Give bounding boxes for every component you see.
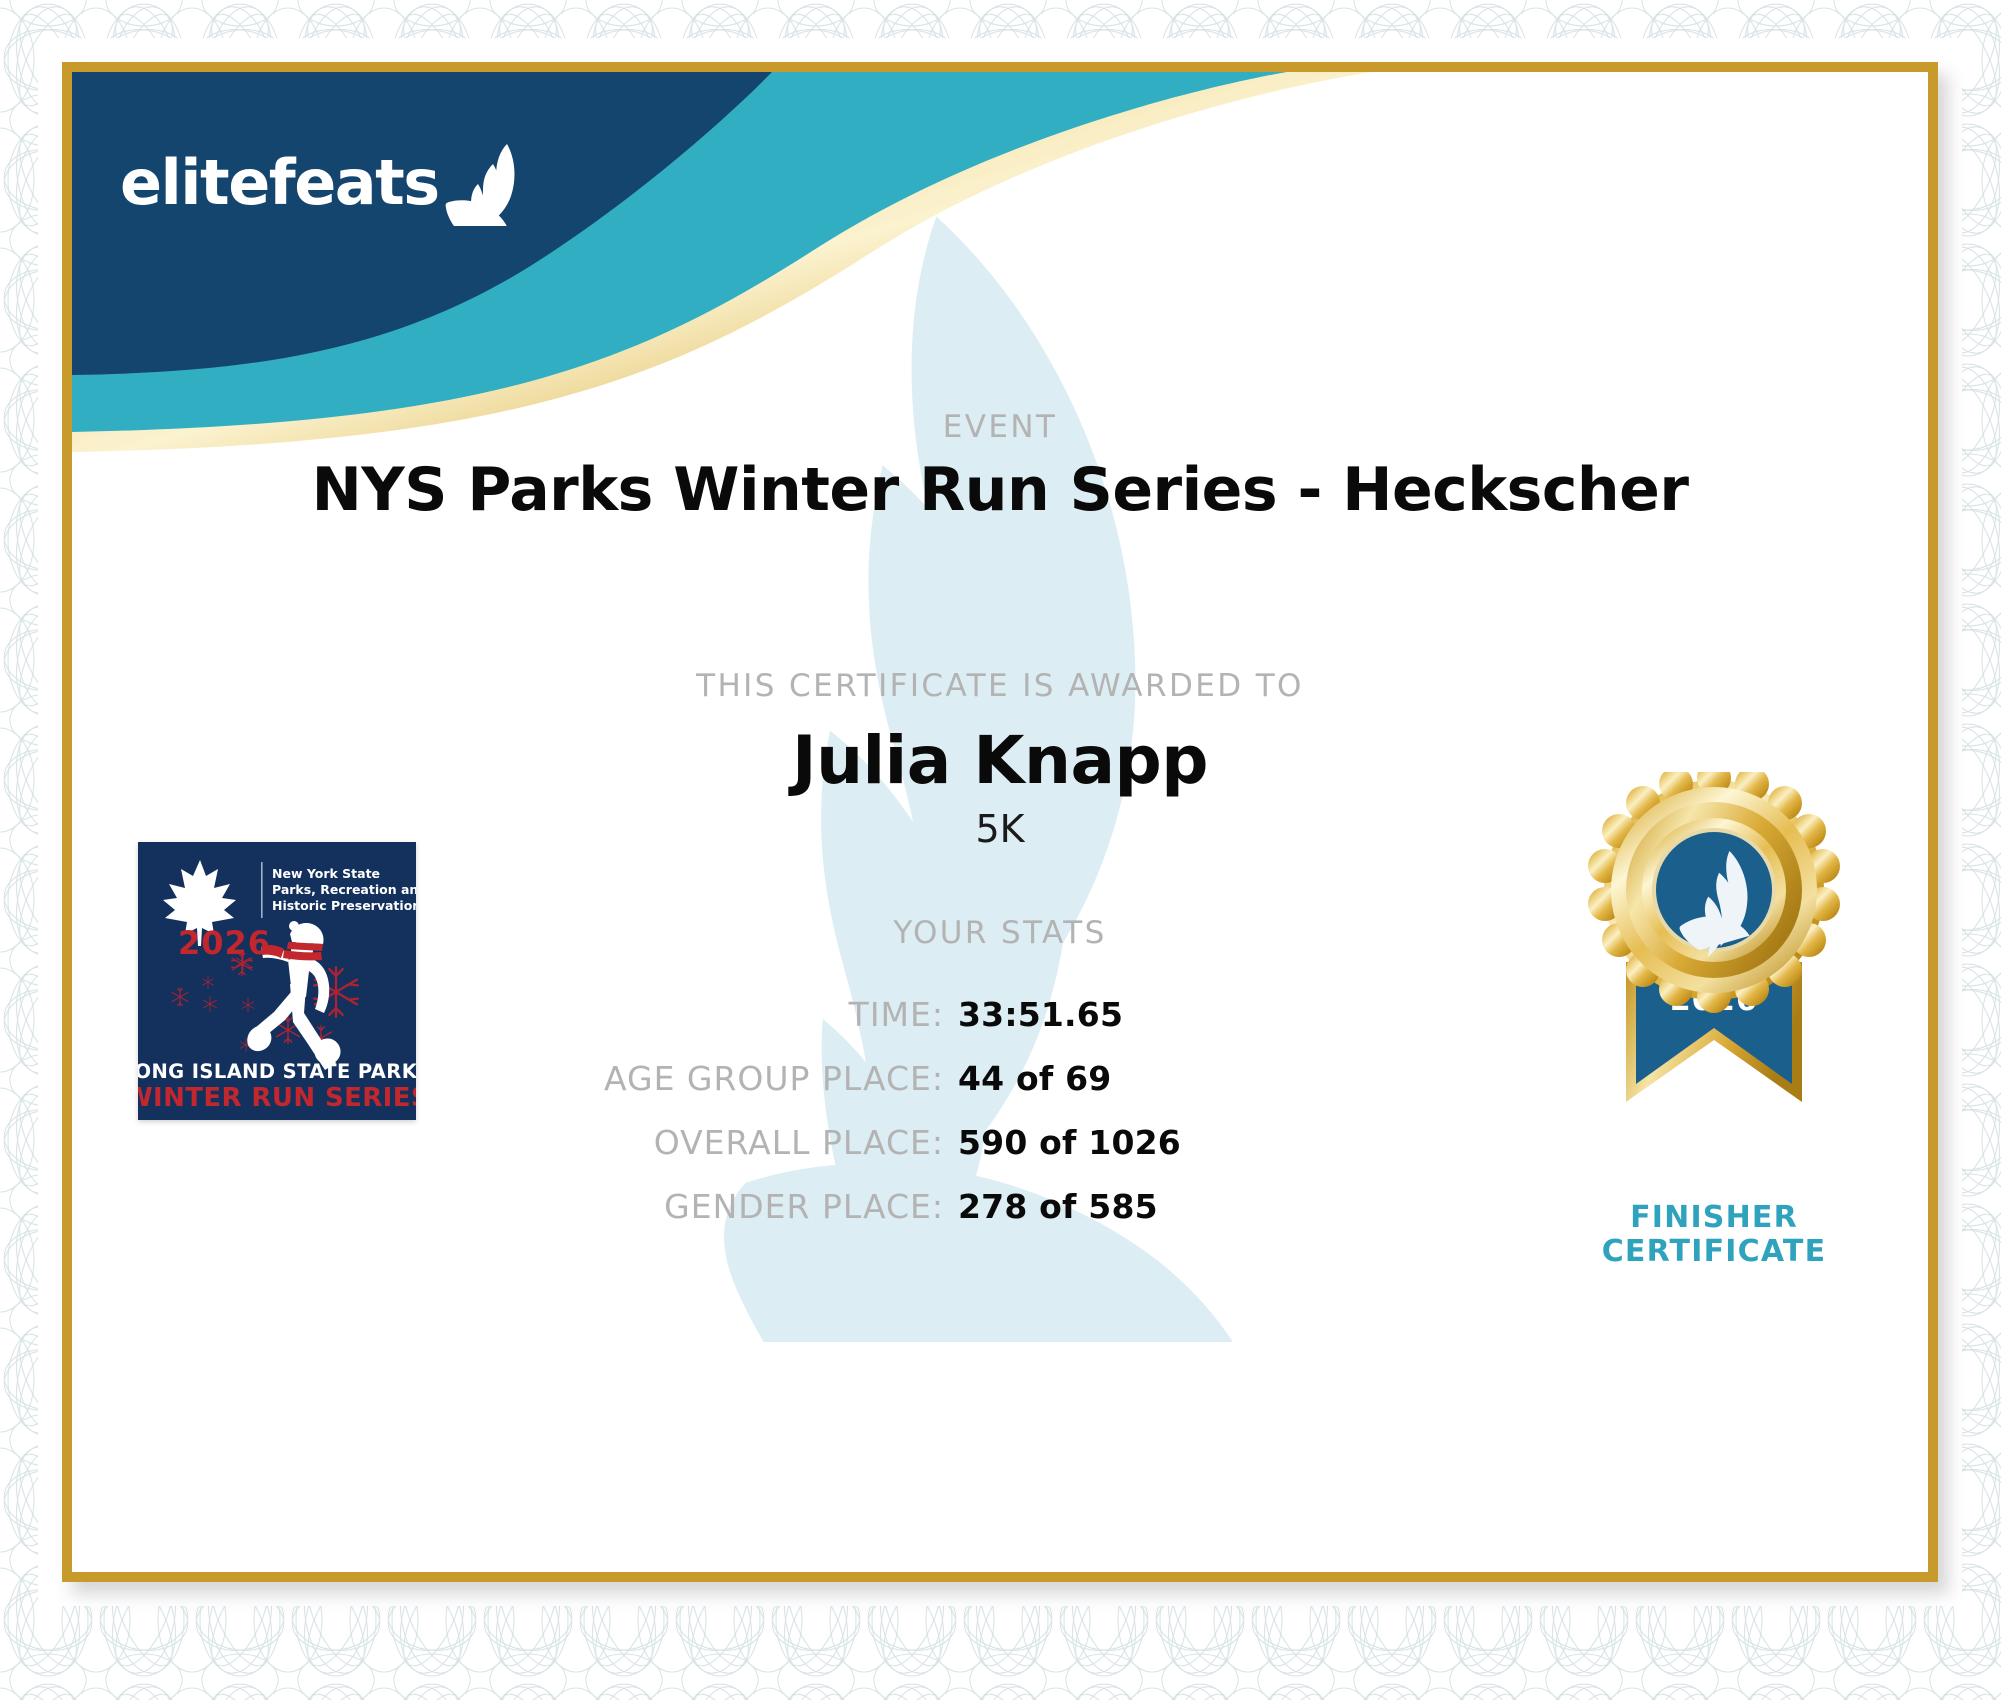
stat-label: OVERALL PLACE: [72,1123,944,1162]
finisher-caption-line2: CERTIFICATE [1564,1235,1864,1269]
awarded-to-label: THIS CERTIFICATE IS AWARDED TO [72,668,1928,704]
svg-text:Parks, Recreation and: Parks, Recreation and [272,882,416,897]
gold-rosette-medal-icon: 2026 [1564,772,1864,1192]
stat-label: GENDER PLACE: [72,1187,944,1226]
finisher-caption-line1: FINISHER [1564,1201,1864,1235]
event-logo-badge: New York State Parks, Recreation and His… [138,842,416,1120]
stat-value: 44 of 69 [958,1059,1111,1098]
svg-text:Historic Preservation: Historic Preservation [272,898,416,913]
svg-text:WINTER RUN SERIES: WINTER RUN SERIES [138,1083,416,1113]
stat-value: 33:51.65 [958,995,1123,1034]
certificate-page: elitefeats EVENT NYS Parks Winter Run Se… [0,0,2001,1700]
event-title: NYS Parks Winter Run Series - Heckscher [72,455,1928,525]
gold-border-frame: elitefeats EVENT NYS Parks Winter Run Se… [62,62,1938,1582]
svg-text:New York State: New York State [272,866,380,881]
finisher-medal: 2026 [1564,772,1864,1268]
finisher-caption: FINISHER CERTIFICATE [1564,1201,1864,1268]
stat-value: 590 of 1026 [958,1123,1181,1162]
event-kicker-label: EVENT [72,409,1928,445]
stat-value: 278 of 585 [958,1187,1158,1226]
svg-text:2026: 2026 [178,924,271,962]
svg-text:LONG ISLAND STATE PARKS: LONG ISLAND STATE PARKS [138,1060,416,1083]
certificate-body: elitefeats EVENT NYS Parks Winter Run Se… [72,72,1928,1572]
